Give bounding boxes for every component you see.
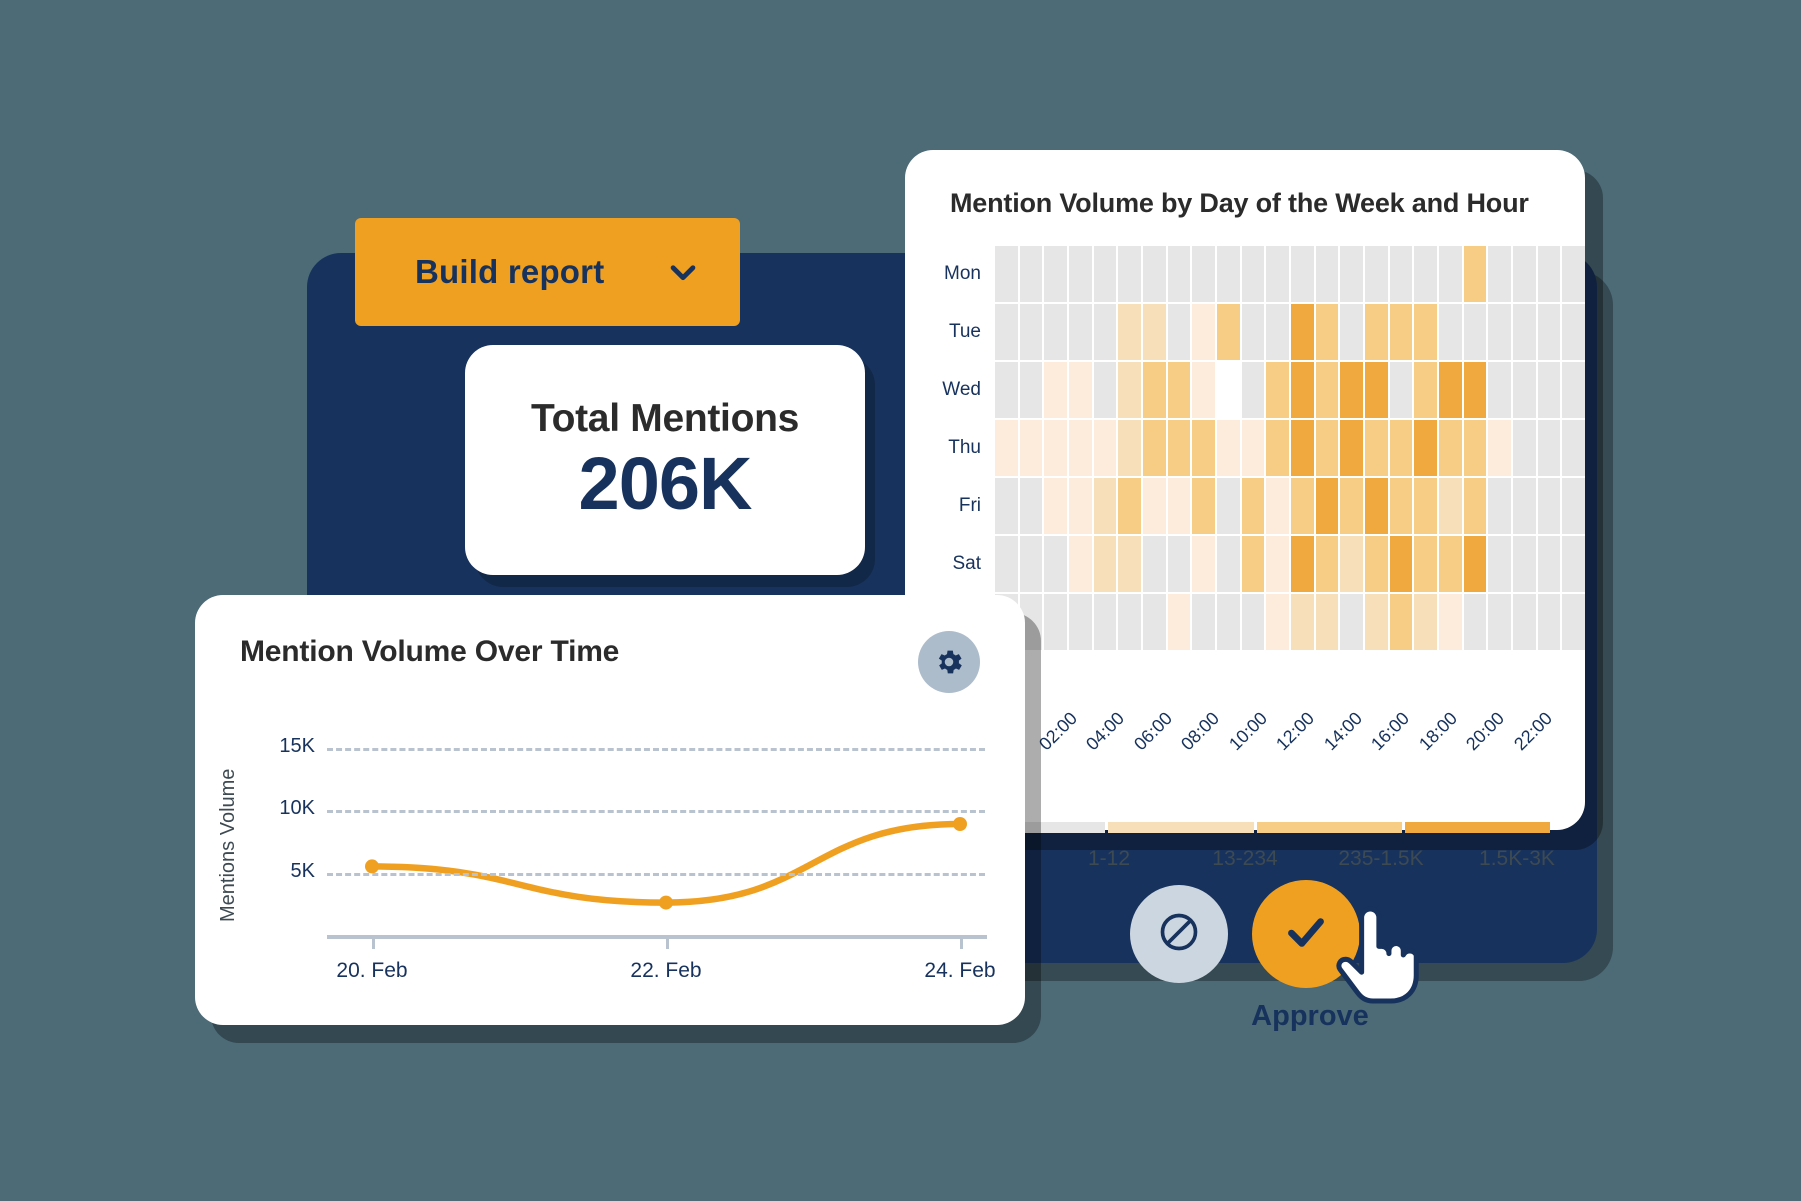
heatmap-cell[interactable] — [1488, 362, 1511, 418]
legend-swatch — [1257, 822, 1402, 833]
heatmap-cell[interactable] — [1291, 420, 1314, 476]
heatmap-cell[interactable] — [1365, 536, 1388, 592]
heatmap-row: Sat — [915, 535, 1585, 593]
heatmap-cell[interactable] — [1291, 362, 1314, 418]
heatmap-cell[interactable] — [1340, 478, 1363, 534]
check-icon — [1281, 907, 1331, 962]
heatmap-cell[interactable] — [1094, 246, 1117, 302]
heatmap-cell[interactable] — [1266, 536, 1289, 592]
heatmap-cell[interactable] — [1094, 420, 1117, 476]
heatmap-cell[interactable] — [1242, 362, 1265, 418]
heatmap-cell[interactable] — [1192, 304, 1215, 360]
heatmap-cell[interactable] — [1069, 304, 1092, 360]
heatmap-cell[interactable] — [1538, 478, 1561, 534]
heatmap-cell[interactable] — [1488, 246, 1511, 302]
heatmap-row-cells — [995, 594, 1585, 650]
heatmap-cell[interactable] — [1168, 246, 1191, 302]
heatmap-cell[interactable] — [1316, 420, 1339, 476]
heatmap-row: Tue — [915, 303, 1585, 361]
heatmap-row: Wed — [915, 361, 1585, 419]
heatmap-cell[interactable] — [1118, 536, 1141, 592]
heatmap-cell[interactable] — [1316, 536, 1339, 592]
heatmap-cell[interactable] — [1044, 304, 1067, 360]
heatmap-cell[interactable] — [1192, 594, 1215, 650]
heatmap-cell[interactable] — [1192, 246, 1215, 302]
heatmap-cell[interactable] — [1266, 478, 1289, 534]
heatmap-cell[interactable] — [1538, 536, 1561, 592]
heatmap-cell[interactable] — [1118, 420, 1141, 476]
heatmap-cell[interactable] — [995, 362, 1018, 418]
heatmap-cell[interactable] — [1020, 478, 1043, 534]
heatmap-cell[interactable] — [1414, 362, 1437, 418]
heatmap-cell[interactable] — [1242, 246, 1265, 302]
chevron-down-icon — [666, 255, 700, 289]
heatmap-cell[interactable] — [1242, 478, 1265, 534]
heatmap-cell[interactable] — [1118, 246, 1141, 302]
heatmap-cell[interactable] — [1464, 246, 1487, 302]
heatmap-cell[interactable] — [1143, 536, 1166, 592]
heatmap-cell[interactable] — [1414, 420, 1437, 476]
heatmap-cell[interactable] — [1069, 420, 1092, 476]
heatmap-cell[interactable] — [1217, 478, 1240, 534]
heatmap-cell[interactable] — [1266, 362, 1289, 418]
heatmap-row-label: Wed — [915, 379, 995, 401]
heatmap-cell[interactable] — [1340, 362, 1363, 418]
heatmap-cell[interactable] — [1316, 478, 1339, 534]
heatmap-row-cells — [995, 420, 1585, 476]
heatmap-cell[interactable] — [1439, 478, 1462, 534]
heatmap-row-label: Tue — [915, 321, 995, 343]
data-point[interactable] — [659, 896, 673, 910]
total-mentions-card: Total Mentions 206K — [465, 345, 865, 575]
grid-line — [327, 810, 985, 813]
heatmap-cell[interactable] — [1217, 594, 1240, 650]
heatmap-cell[interactable] — [1488, 478, 1511, 534]
heatmap-cell[interactable] — [1488, 420, 1511, 476]
approve-button[interactable] — [1252, 880, 1360, 988]
line-series-svg — [255, 715, 995, 955]
heatmap-cell[interactable] — [1044, 536, 1067, 592]
heatmap-cell[interactable] — [1562, 536, 1585, 592]
heatmap-cell[interactable] — [1242, 420, 1265, 476]
x-axis-tick-mark — [666, 935, 669, 949]
heatmap-cell[interactable] — [1291, 536, 1314, 592]
heatmap-cell[interactable] — [1439, 362, 1462, 418]
heatmap-cell[interactable] — [995, 478, 1018, 534]
legend-swatch — [1405, 822, 1550, 833]
heatmap-cell[interactable] — [1020, 536, 1043, 592]
heatmap-cell[interactable] — [1390, 536, 1413, 592]
line-chart-y-axis-title: Mentions Volume — [217, 745, 240, 945]
data-point[interactable] — [953, 817, 967, 831]
heatmap-cell[interactable] — [1414, 246, 1437, 302]
heatmap-cell[interactable] — [1192, 420, 1215, 476]
heatmap-cell[interactable] — [1217, 304, 1240, 360]
heatmap-cell[interactable] — [1242, 536, 1265, 592]
heatmap-cell[interactable] — [1242, 594, 1265, 650]
heatmap-cell[interactable] — [1513, 420, 1536, 476]
heatmap-cell[interactable] — [1266, 246, 1289, 302]
heatmap-cell[interactable] — [1217, 420, 1240, 476]
heatmap-cell[interactable] — [1044, 246, 1067, 302]
heatmap-cell[interactable] — [1340, 420, 1363, 476]
heatmap-cell[interactable] — [1291, 304, 1314, 360]
heatmap-cell[interactable] — [1094, 478, 1117, 534]
heatmap-cell[interactable] — [1439, 246, 1462, 302]
heatmap-cell[interactable] — [1266, 304, 1289, 360]
heatmap-cell[interactable] — [1118, 304, 1141, 360]
heatmap-cell[interactable] — [1168, 536, 1191, 592]
heatmap-cell[interactable] — [1291, 246, 1314, 302]
heatmap-cell[interactable] — [995, 420, 1018, 476]
heatmap-cell[interactable] — [1192, 536, 1215, 592]
heatmap-cell[interactable] — [1094, 304, 1117, 360]
heatmap-row-cells — [995, 478, 1585, 534]
heatmap-cell[interactable] — [1094, 362, 1117, 418]
heatmap-cell[interactable] — [1365, 420, 1388, 476]
heatmap-cell[interactable] — [1538, 304, 1561, 360]
heatmap-cell[interactable] — [1513, 594, 1536, 650]
heatmap-cell[interactable] — [1390, 594, 1413, 650]
kpi-value: 206K — [579, 445, 752, 523]
heatmap-cell[interactable] — [1143, 420, 1166, 476]
heatmap-cell[interactable] — [1538, 420, 1561, 476]
heatmap-cell[interactable] — [1562, 594, 1585, 650]
heatmap-cell[interactable] — [1118, 594, 1141, 650]
heatmap-cell[interactable] — [1562, 246, 1585, 302]
heatmap-legend-colorbar — [960, 822, 1550, 833]
heatmap-cell[interactable] — [1365, 362, 1388, 418]
heatmap-cell[interactable] — [1340, 246, 1363, 302]
heatmap-cell[interactable] — [1168, 304, 1191, 360]
heatmap-cell[interactable] — [1390, 420, 1413, 476]
legend-label: 235-1.5K — [1313, 847, 1449, 871]
heatmap-cell[interactable] — [1513, 536, 1536, 592]
heatmap-cell[interactable] — [1365, 478, 1388, 534]
grid-line — [327, 873, 985, 876]
heatmap-cell[interactable] — [1094, 594, 1117, 650]
heatmap-cell[interactable] — [1365, 246, 1388, 302]
heatmap-cell[interactable] — [1340, 304, 1363, 360]
heatmap-row-cells — [995, 304, 1585, 360]
heatmap-cell[interactable] — [1143, 246, 1166, 302]
heatmap-cell[interactable] — [1118, 362, 1141, 418]
heatmap-cell[interactable] — [1143, 594, 1166, 650]
heatmap-cell[interactable] — [1488, 304, 1511, 360]
heatmap-cell[interactable] — [995, 246, 1018, 302]
heatmap-cell[interactable] — [1044, 420, 1067, 476]
heatmap-cell[interactable] — [1192, 362, 1215, 418]
heatmap-cell[interactable] — [1414, 536, 1437, 592]
heatmap-cell[interactable] — [995, 536, 1018, 592]
heatmap-cell[interactable] — [1538, 362, 1561, 418]
heatmap-cell[interactable] — [1044, 362, 1067, 418]
heatmap-cell[interactable] — [1513, 362, 1536, 418]
heatmap-row: Thu — [915, 419, 1585, 477]
heatmap-cell[interactable] — [1390, 478, 1413, 534]
heatmap-cell[interactable] — [1464, 362, 1487, 418]
heatmap-row-cells — [995, 246, 1585, 302]
heatmap-cell[interactable] — [1168, 420, 1191, 476]
heatmap-cell[interactable] — [1069, 478, 1092, 534]
heatmap-cell[interactable] — [995, 304, 1018, 360]
heatmap-cell[interactable] — [1192, 478, 1215, 534]
block-icon — [1157, 910, 1201, 959]
gear-icon[interactable] — [918, 631, 980, 693]
heatmap-cell[interactable] — [1217, 362, 1240, 418]
screenshot-stage: Build report Total Mentions 206K Mention… — [0, 0, 1801, 1201]
line-chart-title: Mention Volume Over Time — [240, 635, 619, 669]
x-axis-tick: 22. Feb — [630, 959, 701, 983]
heatmap-cell[interactable] — [1168, 594, 1191, 650]
heatmap-cell[interactable] — [1464, 594, 1487, 650]
build-report-button[interactable]: Build report — [355, 218, 740, 326]
legend-swatch — [1108, 822, 1253, 833]
heatmap-cell[interactable] — [1143, 304, 1166, 360]
build-report-label: Build report — [415, 253, 604, 291]
heatmap-cell[interactable] — [1143, 478, 1166, 534]
heatmap-row-label: Thu — [915, 437, 995, 459]
heatmap-cell[interactable] — [1044, 478, 1067, 534]
y-axis-tick: 15K — [255, 735, 315, 758]
heatmap-cell[interactable] — [1414, 304, 1437, 360]
legend-label: 1.5K-3K — [1449, 847, 1585, 871]
heatmap-cell[interactable] — [1538, 594, 1561, 650]
heatmap-cell[interactable] — [1266, 594, 1289, 650]
x-axis-tick-mark — [960, 935, 963, 949]
heatmap-cell[interactable] — [1168, 362, 1191, 418]
heatmap-cell[interactable] — [1439, 304, 1462, 360]
x-axis-line — [327, 935, 987, 939]
heatmap-cell[interactable] — [1316, 594, 1339, 650]
heatmap-cell[interactable] — [1562, 362, 1585, 418]
grid-line — [327, 748, 985, 751]
heatmap-cell[interactable] — [1242, 304, 1265, 360]
heatmap-cell[interactable] — [1464, 304, 1487, 360]
heatmap-cell[interactable] — [1365, 594, 1388, 650]
heatmap-row-cells — [995, 536, 1585, 592]
heatmap-title: Mention Volume by Day of the Week and Ho… — [950, 188, 1529, 219]
heatmap-cell[interactable] — [1464, 536, 1487, 592]
x-axis-tick: 20. Feb — [336, 959, 407, 983]
heatmap-row: Fri — [915, 477, 1585, 535]
heatmap-cell[interactable] — [1390, 362, 1413, 418]
heatmap-cell[interactable] — [1390, 304, 1413, 360]
approve-label: Approve — [1240, 1000, 1380, 1033]
heatmap-row-label: Fri — [915, 495, 995, 517]
heatmap-cell[interactable] — [1266, 420, 1289, 476]
heatmap-cell[interactable] — [1316, 246, 1339, 302]
line-chart-plot: 15K10K5K20. Feb22. Feb24. Feb — [255, 715, 995, 1015]
heatmap-cell[interactable] — [1414, 594, 1437, 650]
heatmap-cell[interactable] — [1562, 420, 1585, 476]
x-axis-tick: 24. Feb — [924, 959, 995, 983]
y-axis-tick: 10K — [255, 797, 315, 820]
heatmap-row: Mon — [915, 245, 1585, 303]
heatmap-cell[interactable] — [1094, 536, 1117, 592]
heatmap-cell[interactable] — [1513, 246, 1536, 302]
line-series-path — [372, 824, 960, 903]
heatmap-cell[interactable] — [1439, 594, 1462, 650]
heatmap-cell[interactable] — [1069, 536, 1092, 592]
heatmap-cell[interactable] — [1340, 594, 1363, 650]
heatmap-cell[interactable] — [1044, 594, 1067, 650]
heatmap-cell[interactable] — [1439, 536, 1462, 592]
reject-button[interactable] — [1130, 885, 1228, 983]
heatmap-cell[interactable] — [1217, 536, 1240, 592]
heatmap-cell[interactable] — [1291, 478, 1314, 534]
heatmap-cell[interactable] — [1513, 304, 1536, 360]
heatmap-cell[interactable] — [1316, 362, 1339, 418]
heatmap-cell[interactable] — [1562, 304, 1585, 360]
heatmap-cell[interactable] — [1562, 478, 1585, 534]
heatmap-cell[interactable] — [1118, 478, 1141, 534]
heatmap-cell[interactable] — [1390, 246, 1413, 302]
heatmap-row-label: Sat — [915, 553, 995, 575]
kpi-title: Total Mentions — [531, 397, 799, 441]
heatmap-cell[interactable] — [1538, 246, 1561, 302]
heatmap-cell[interactable] — [1020, 362, 1043, 418]
heatmap-cell[interactable] — [1464, 420, 1487, 476]
y-axis-tick: 5K — [255, 860, 315, 883]
heatmap-cell[interactable] — [1069, 594, 1092, 650]
heatmap-cell[interactable] — [1365, 304, 1388, 360]
heatmap-x-axis: 02:0004:0006:0008:0010:0012:0014:0016:00… — [999, 740, 1569, 820]
heatmap-cell[interactable] — [1020, 246, 1043, 302]
heatmap-cell[interactable] — [1168, 478, 1191, 534]
heatmap-cell[interactable] — [1316, 304, 1339, 360]
data-point[interactable] — [365, 859, 379, 873]
heatmap-cell[interactable] — [1020, 420, 1043, 476]
mention-volume-over-time-card: Mention Volume Over Time Mentions Volume… — [195, 595, 1025, 1025]
heatmap-cell[interactable] — [1439, 420, 1462, 476]
heatmap-cell[interactable] — [1488, 536, 1511, 592]
heatmap-cell[interactable] — [1020, 304, 1043, 360]
heatmap-row-cells — [995, 362, 1585, 418]
heatmap-row-label: Mon — [915, 263, 995, 285]
legend-label: 13-234 — [1177, 847, 1313, 871]
heatmap-cell[interactable] — [1513, 478, 1536, 534]
heatmap-cell[interactable] — [1143, 362, 1166, 418]
heatmap-cell[interactable] — [1217, 246, 1240, 302]
x-axis-tick-mark — [372, 935, 375, 949]
legend-label: 1-12 — [1041, 847, 1177, 871]
heatmap-cell[interactable] — [1488, 594, 1511, 650]
heatmap-cell[interactable] — [1464, 478, 1487, 534]
heatmap-cell[interactable] — [1340, 536, 1363, 592]
heatmap-cell[interactable] — [1069, 362, 1092, 418]
heatmap-cell[interactable] — [1414, 478, 1437, 534]
heatmap-cell[interactable] — [1291, 594, 1314, 650]
heatmap-cell[interactable] — [1069, 246, 1092, 302]
